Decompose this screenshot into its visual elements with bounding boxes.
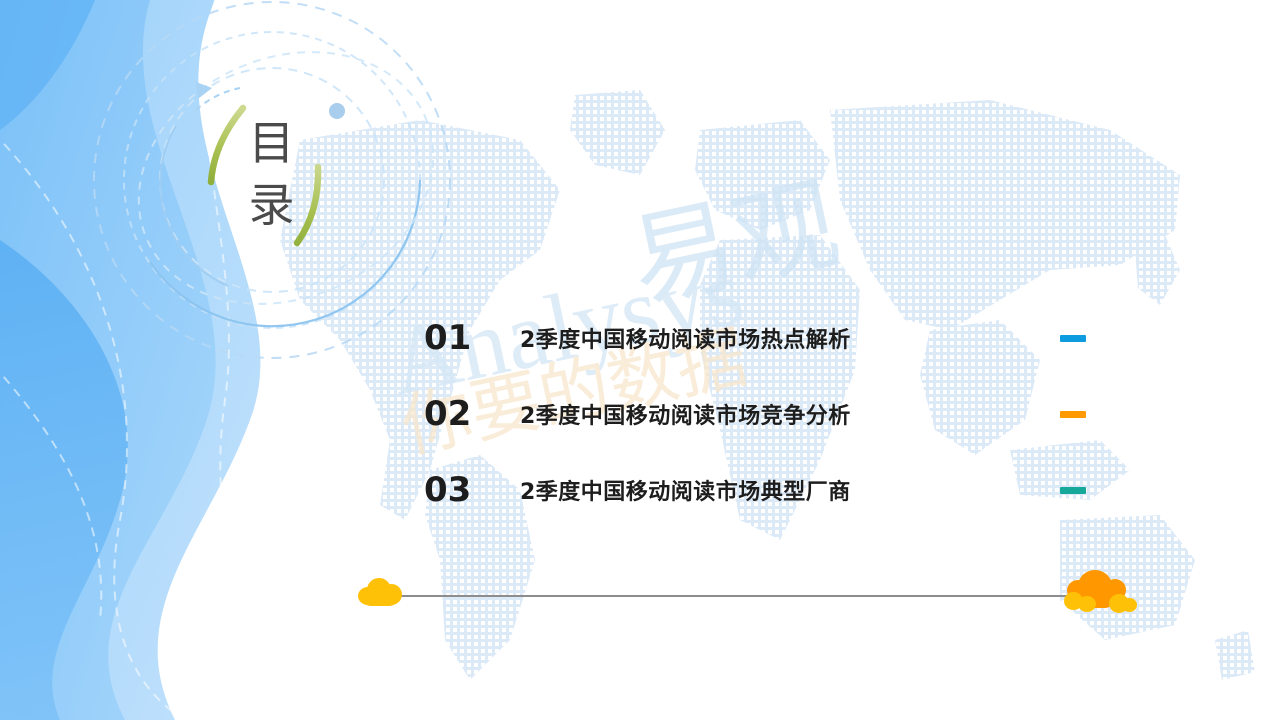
arrow-triangle-icon: [196, 82, 212, 99]
agenda-item-01[interactable]: 01 2季度中国移动阅读市场热点解析: [424, 300, 1064, 376]
agenda-item-label: 2季度中国移动阅读市场竞争分析: [520, 398, 1064, 430]
agenda-item-number: 01: [424, 321, 520, 355]
agenda-item-number: 02: [424, 397, 520, 431]
cloud-left-small: [358, 575, 406, 607]
title-char-1: 目: [232, 112, 312, 174]
agenda-list: 01 2季度中国移动阅读市场热点解析 02 2季度中国移动阅读市场竞争分析 03…: [424, 300, 1064, 528]
agenda-item-03[interactable]: 03 2季度中国移动阅读市场典型厂商: [424, 452, 1064, 528]
title-char-2: 录: [232, 174, 312, 236]
agenda-item-label: 2季度中国移动阅读市场典型厂商: [520, 474, 1064, 506]
cloud-right-cluster: [1064, 568, 1138, 618]
agenda-item-number: 03: [424, 473, 520, 507]
agenda-item-02[interactable]: 02 2季度中国移动阅读市场竞争分析: [424, 376, 1064, 452]
page-title: 目 录: [232, 112, 312, 236]
agenda-marker-teal: [1060, 487, 1086, 494]
agenda-item-label: 2季度中国移动阅读市场热点解析: [520, 322, 1064, 354]
blue-orbit-dot: [329, 103, 345, 119]
agenda-slide: Analysys 易观 你要的数据 目 录 01 2季度中国移动阅读市场热点解析…: [0, 0, 1280, 720]
agenda-marker-blue: [1060, 335, 1086, 342]
agenda-marker-orange: [1060, 411, 1086, 418]
bottom-divider: [383, 595, 1083, 597]
